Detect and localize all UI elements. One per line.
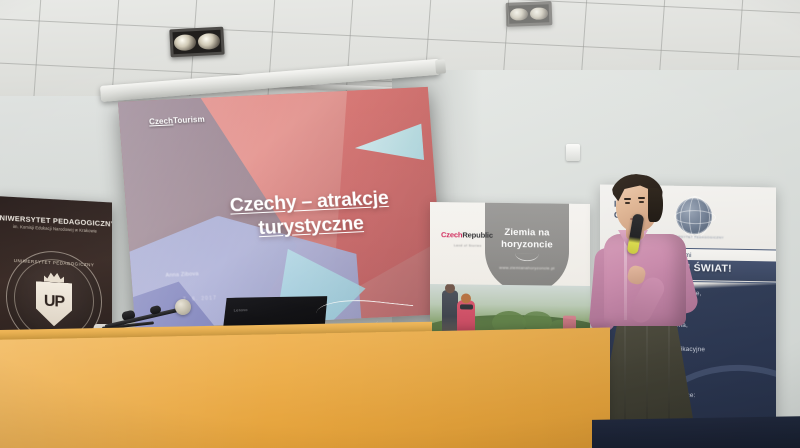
desk-sheen [0, 328, 610, 448]
banner-czech-republic: Ziemia na horyzoncie www.ziemianahoryzon… [430, 202, 590, 344]
binoculars-icon [460, 304, 473, 309]
cz-arch-url: www.ziemianahoryzoncie.pl [485, 265, 569, 271]
speaker-brow-right [638, 197, 645, 199]
speaker-hair-side [648, 188, 663, 222]
mic-stand-upper-arm [105, 307, 182, 328]
cz-arch-headline: Ziemia na horyzoncie [485, 227, 569, 251]
recessed-twin-spotlight-icon [169, 27, 224, 58]
desk-front-panel [0, 328, 610, 448]
presentation-slide: CzechTourism Czechy – atrakcje turystycz… [118, 87, 445, 329]
czechtourism-logo-tourism: Tourism [173, 115, 205, 126]
slide-title-line-2: turystyczne [258, 212, 365, 239]
speaker-brow-left [624, 198, 631, 200]
up-monogram: UP [44, 292, 64, 311]
projection-screen: CzechTourism Czechy – atrakcje turystycz… [118, 87, 445, 329]
lecture-hall-photo: CzechTourism Czechy – atrakcje turystycz… [0, 0, 800, 448]
czechrepublic-logo-tagline: Land of Stories [454, 243, 493, 247]
recessed-spotlight-secondary-icon [506, 1, 553, 27]
laptop-brand-label: Lenovo [234, 308, 248, 313]
czechtourism-logo-czech: Czech [149, 116, 174, 126]
cz-arch-line-2: horyzoncie [501, 238, 553, 250]
czechrepublic-logo-czech: Czech [441, 230, 462, 239]
czechrepublic-logo: CzechRepublic Land of Stories [441, 224, 493, 248]
microphone-head-icon [175, 299, 191, 315]
desk-right-dark-panel [592, 416, 800, 448]
cz-arch-line-1: Ziemia na [504, 227, 549, 239]
wall-sensor-icon [566, 144, 580, 161]
czechrepublic-logo-republic: Republic [462, 230, 492, 239]
